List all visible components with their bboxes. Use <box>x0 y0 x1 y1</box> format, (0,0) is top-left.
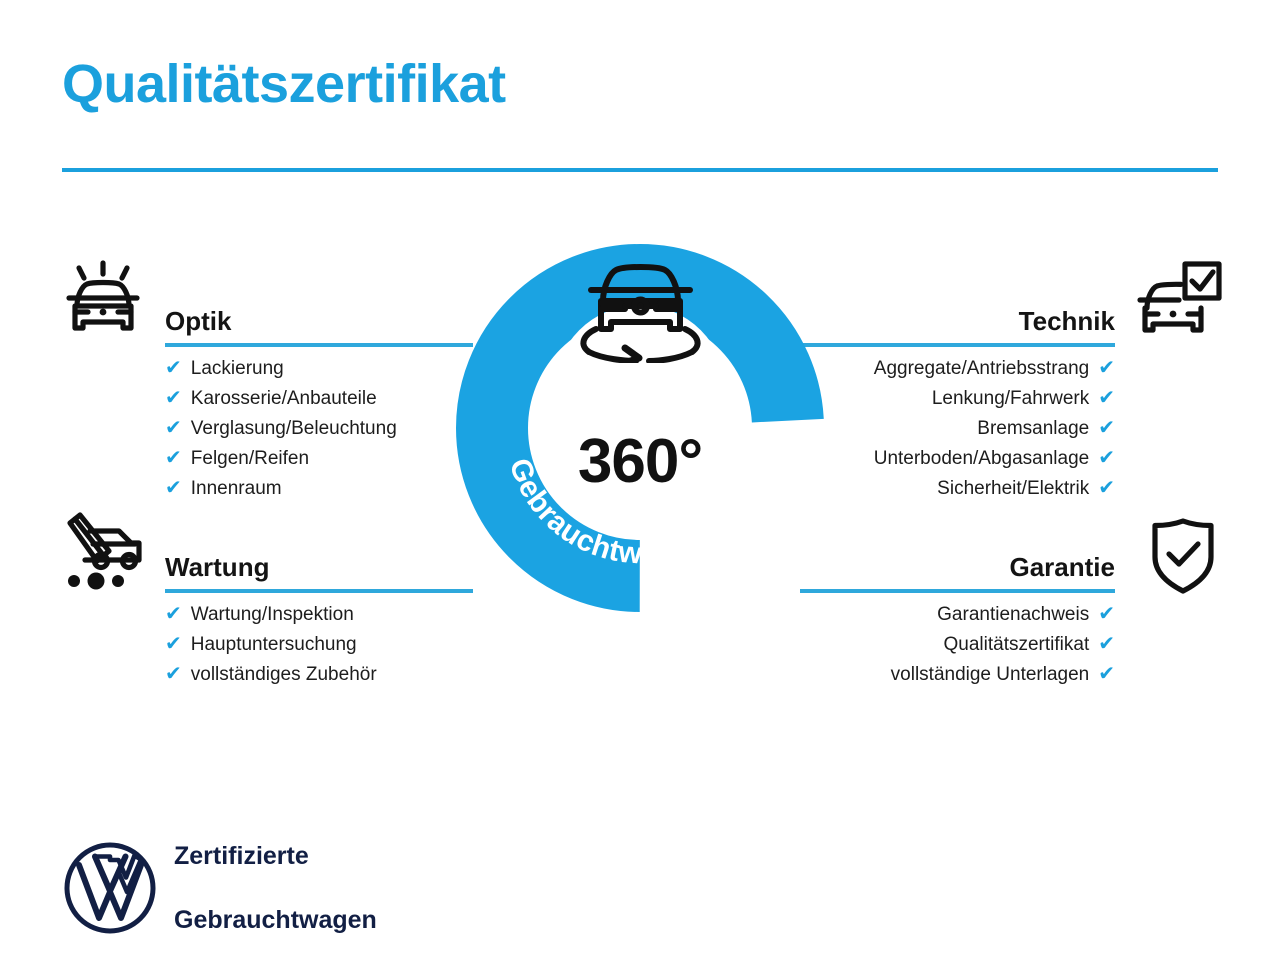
check-icon: ✔ <box>1098 443 1115 473</box>
section-optik-underline <box>165 343 473 347</box>
check-icon: ✔ <box>1098 659 1115 689</box>
badge-center-value: 360° <box>455 426 825 497</box>
section-technik-title: Technik <box>1019 306 1115 337</box>
footer-line-2: Gebrauchtwagen <box>174 904 377 936</box>
list-item: ✔ Lackierung <box>165 353 473 383</box>
section-technik-items: Aggregate/Antriebsstrang ✔ Lenkung/Fahrw… <box>800 353 1115 503</box>
check-icon: ✔ <box>1098 629 1115 659</box>
check-icon: ✔ <box>165 353 182 383</box>
car-checkbox-icon <box>1133 258 1225 350</box>
footer-brand-text: Zertifizierte Gebrauchtwagen <box>174 808 377 968</box>
list-item-label: vollständiges Zubehör <box>191 660 377 690</box>
section-optik-title: Optik <box>165 306 231 337</box>
list-item: ✔ Wartung/Inspektion <box>165 599 473 629</box>
section-optik-header: Optik <box>165 295 473 347</box>
list-item-label: Innenraum <box>191 474 282 504</box>
section-garantie-title: Garantie <box>1010 552 1116 583</box>
section-wartung-title: Wartung <box>165 552 269 583</box>
page-title: Qualitätszertifikat <box>62 56 506 113</box>
list-item: Aggregate/Antriebsstrang ✔ <box>800 353 1115 383</box>
list-item-label: Hauptuntersuchung <box>191 630 357 660</box>
check-icon: ✔ <box>1098 473 1115 503</box>
header-divider <box>62 168 1218 172</box>
check-icon: ✔ <box>1098 413 1115 443</box>
car-front-shine-icon <box>57 256 149 348</box>
list-item-label: Unterboden/Abgasanlage <box>874 444 1090 474</box>
list-item: Bremsanlage ✔ <box>800 413 1115 443</box>
check-icon: ✔ <box>165 629 182 659</box>
list-item: ✔ Karosserie/Anbauteile <box>165 383 473 413</box>
list-item-label: Sicherheit/Elektrik <box>937 474 1089 504</box>
check-icon: ✔ <box>165 383 182 413</box>
car-service-pen-icon <box>57 505 149 597</box>
section-wartung-header: Wartung <box>165 541 473 593</box>
list-item: Qualitätszertifikat ✔ <box>800 629 1115 659</box>
check-icon: ✔ <box>165 443 182 473</box>
section-technik-underline <box>800 343 1115 347</box>
section-wartung-items: ✔ Wartung/Inspektion ✔ Hauptuntersuchung… <box>165 599 473 689</box>
check-icon: ✔ <box>1098 599 1115 629</box>
list-item: ✔ Verglasung/Beleuchtung <box>165 413 473 443</box>
shield-check-icon <box>1137 510 1229 602</box>
section-technik-header: Technik <box>800 295 1115 347</box>
list-item: ✔ Hauptuntersuchung <box>165 629 473 659</box>
list-item-label: Wartung/Inspektion <box>191 600 354 630</box>
list-item: ✔ Innenraum <box>165 473 473 503</box>
list-item-label: Verglasung/Beleuchtung <box>191 414 397 444</box>
list-item-label: Bremsanlage <box>977 414 1089 444</box>
section-garantie-items: Garantienachweis ✔ Qualitätszertifikat ✔… <box>800 599 1115 689</box>
list-item: Sicherheit/Elektrik ✔ <box>800 473 1115 503</box>
vw-logo <box>62 840 158 936</box>
list-item: Garantienachweis ✔ <box>800 599 1115 629</box>
car-rotation-icon <box>563 245 718 363</box>
list-item-label: Garantienachweis <box>937 600 1089 630</box>
list-item: Unterboden/Abgasanlage ✔ <box>800 443 1115 473</box>
list-item-label: Lenkung/Fahrwerk <box>932 384 1089 414</box>
footer-line-1: Zertifizierte <box>174 840 377 872</box>
check-icon: ✔ <box>1098 383 1115 413</box>
list-item: ✔ vollständiges Zubehör <box>165 659 473 689</box>
check-icon: ✔ <box>165 599 182 629</box>
check-icon: ✔ <box>165 473 182 503</box>
section-wartung-underline <box>165 589 473 593</box>
check-icon: ✔ <box>165 659 182 689</box>
check-icon: ✔ <box>165 413 182 443</box>
list-item-label: Qualitätszertifikat <box>944 630 1090 660</box>
check-icon: ✔ <box>1098 353 1115 383</box>
badge-360-check: Gebrauchtwagen-Check 360° <box>455 243 825 613</box>
list-item-label: Lackierung <box>191 354 284 384</box>
list-item-label: Karosserie/Anbauteile <box>191 384 377 414</box>
list-item: vollständige Unterlagen ✔ <box>800 659 1115 689</box>
footer-brand: Zertifizierte Gebrauchtwagen <box>62 808 377 968</box>
section-garantie-header: Garantie <box>800 541 1115 593</box>
list-item-label: Aggregate/Antriebsstrang <box>874 354 1089 384</box>
list-item: Lenkung/Fahrwerk ✔ <box>800 383 1115 413</box>
section-optik-items: ✔ Lackierung ✔ Karosserie/Anbauteile ✔ V… <box>165 353 473 503</box>
section-garantie-underline <box>800 589 1115 593</box>
list-item: ✔ Felgen/Reifen <box>165 443 473 473</box>
list-item-label: Felgen/Reifen <box>191 444 309 474</box>
list-item-label: vollständige Unterlagen <box>891 660 1090 690</box>
